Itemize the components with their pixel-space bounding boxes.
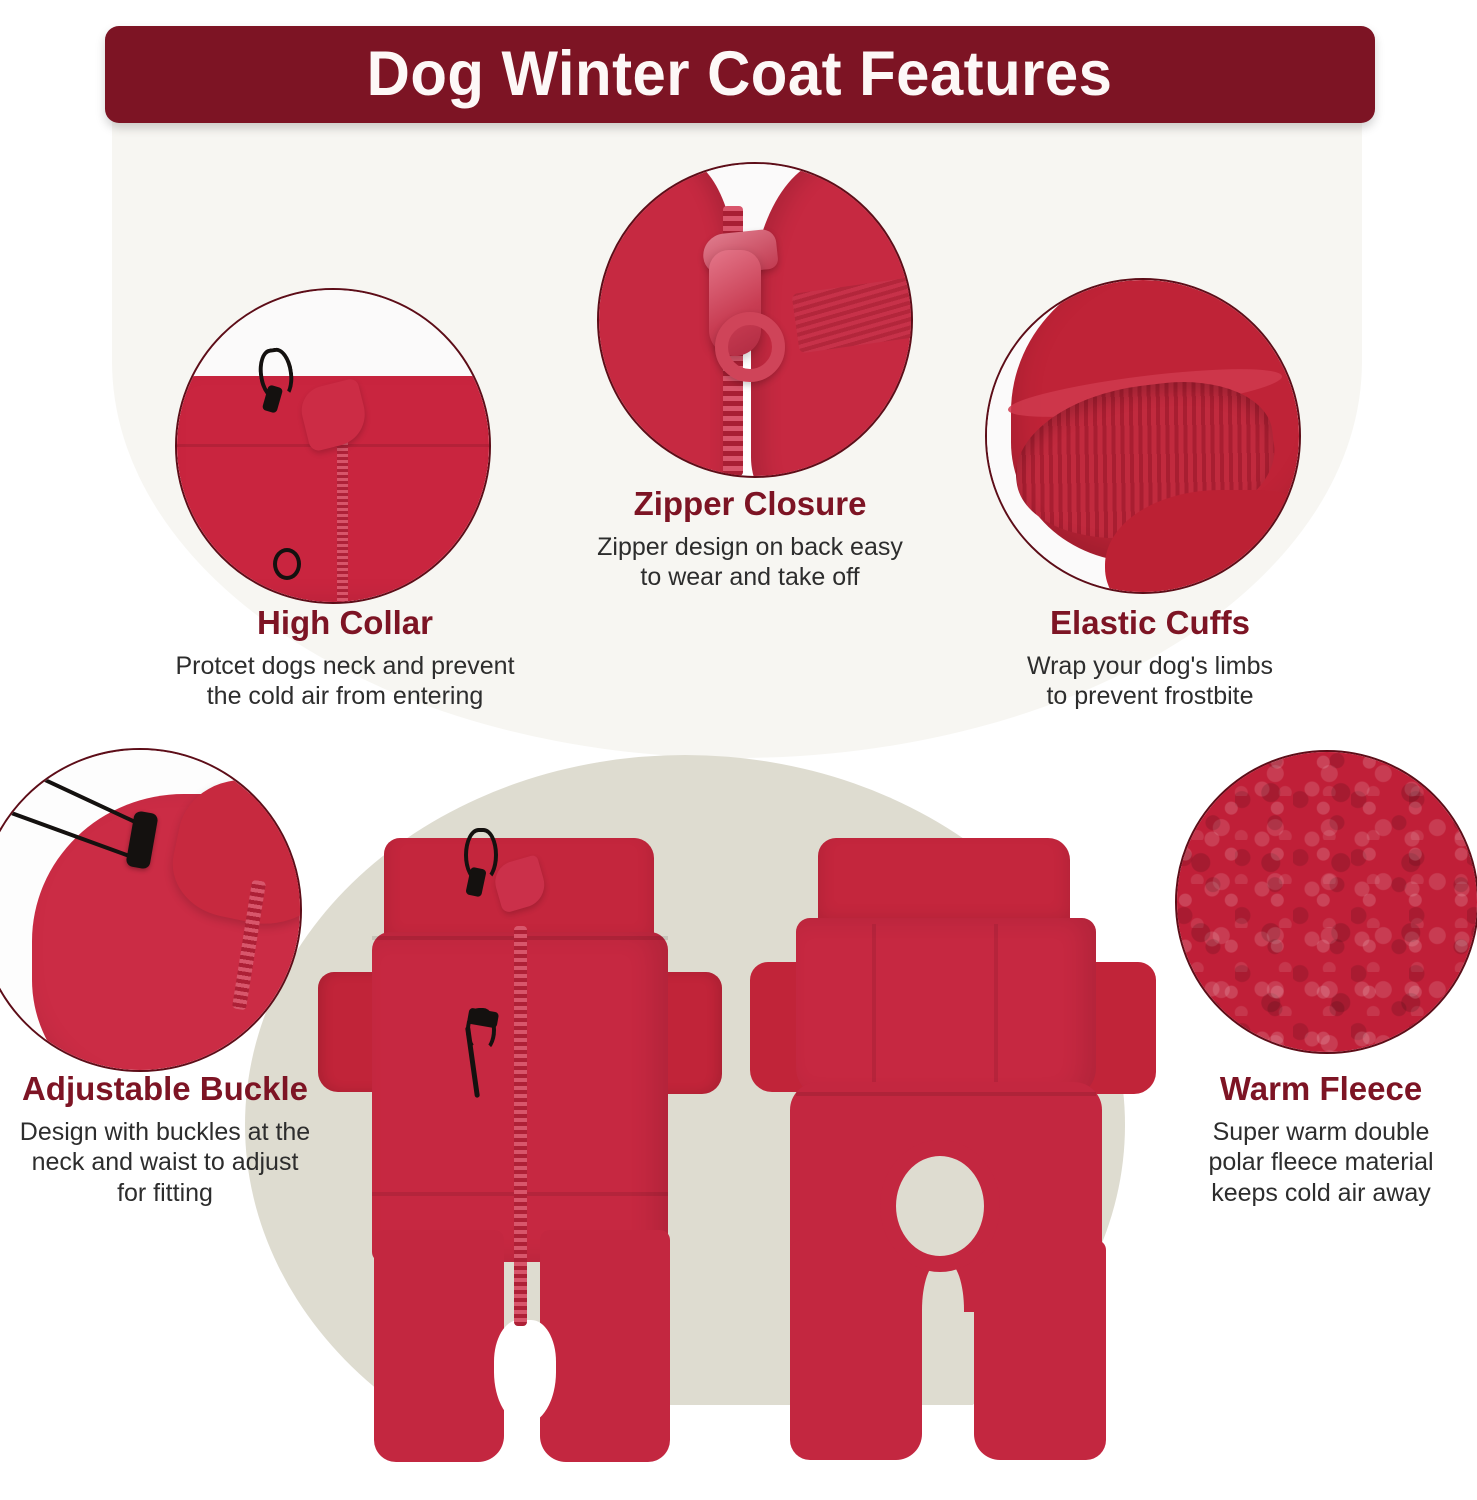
back-leg-right — [974, 1240, 1106, 1460]
feature-desc-adjustable-buckle-line-3: for fitting — [0, 1178, 330, 1209]
buckle-cord-bend — [0, 828, 16, 888]
back-tail-opening — [880, 1140, 1000, 1272]
feature-desc-elastic-cuffs-line-2: to prevent frostbite — [940, 681, 1360, 712]
feature-title-adjustable-buckle: Adjustable Buckle — [0, 1070, 330, 1109]
product-front-view — [318, 820, 718, 1470]
feature-desc-zipper-closure-line-1: Zipper design on back easy — [530, 532, 970, 563]
feature-caption-warm-fleece: Warm Fleece Super warm double polar flee… — [1165, 1070, 1477, 1208]
feature-image-high-collar — [175, 288, 491, 604]
feature-image-adjustable-buckle — [0, 748, 302, 1072]
feature-desc-elastic-cuffs-line-1: Wrap your dog's limbs — [940, 651, 1360, 682]
feature-image-warm-fleece — [1175, 750, 1477, 1054]
front-leg-left — [374, 1230, 504, 1462]
feature-desc-high-collar-line-1: Protcet dogs neck and prevent — [120, 651, 570, 682]
feature-desc-zipper-closure-line-2: to wear and take off — [530, 562, 970, 593]
front-leg-gap — [494, 1320, 556, 1424]
feature-caption-zipper-closure: Zipper Closure Zipper design on back eas… — [530, 485, 970, 593]
front-leg-right — [540, 1230, 670, 1462]
back-leg-left — [790, 1240, 922, 1460]
title-banner: Dog Winter Coat Features — [105, 26, 1375, 123]
feature-desc-adjustable-buckle-line-1: Design with buckles at the — [0, 1117, 330, 1148]
product-back-view — [760, 820, 1160, 1470]
zipper-pull-ring-icon — [715, 312, 785, 382]
back-waist-seam — [796, 1092, 1096, 1096]
back-seam-right — [994, 924, 998, 1092]
collar-zipper — [337, 418, 348, 604]
feature-desc-adjustable-buckle-line-2: neck and waist to adjust — [0, 1147, 330, 1178]
feature-desc-warm-fleece-line-3: keeps cold air away — [1165, 1178, 1477, 1209]
back-collar — [818, 838, 1070, 930]
feature-caption-adjustable-buckle: Adjustable Buckle Design with buckles at… — [0, 1070, 330, 1208]
feature-image-zipper-closure — [597, 162, 913, 478]
feature-caption-high-collar: High Collar Protcet dogs neck and preven… — [120, 604, 570, 712]
feature-desc-warm-fleece-line-2: polar fleece material — [1165, 1147, 1477, 1178]
back-shoulder — [796, 918, 1096, 1098]
front-center-zipper — [514, 926, 527, 1326]
feature-title-zipper-closure: Zipper Closure — [530, 485, 970, 524]
back-seam-left — [872, 924, 876, 1092]
back-leg-gap — [922, 1262, 964, 1382]
infographic-canvas: Dog Winter Coat Features — [0, 0, 1477, 1500]
page-title: Dog Winter Coat Features — [367, 43, 1113, 106]
feature-caption-elastic-cuffs: Elastic Cuffs Wrap your dog's limbs to p… — [940, 604, 1360, 712]
feature-desc-high-collar-line-2: the cold air from entering — [120, 681, 570, 712]
fleece-swatch-texture — [1177, 752, 1477, 1052]
feature-title-warm-fleece: Warm Fleece — [1165, 1070, 1477, 1109]
feature-title-elastic-cuffs: Elastic Cuffs — [940, 604, 1360, 643]
feature-desc-warm-fleece-line-1: Super warm double — [1165, 1117, 1477, 1148]
feature-image-elastic-cuffs — [985, 278, 1301, 594]
collar-grommet-icon — [273, 548, 301, 580]
feature-title-high-collar: High Collar — [120, 604, 570, 643]
